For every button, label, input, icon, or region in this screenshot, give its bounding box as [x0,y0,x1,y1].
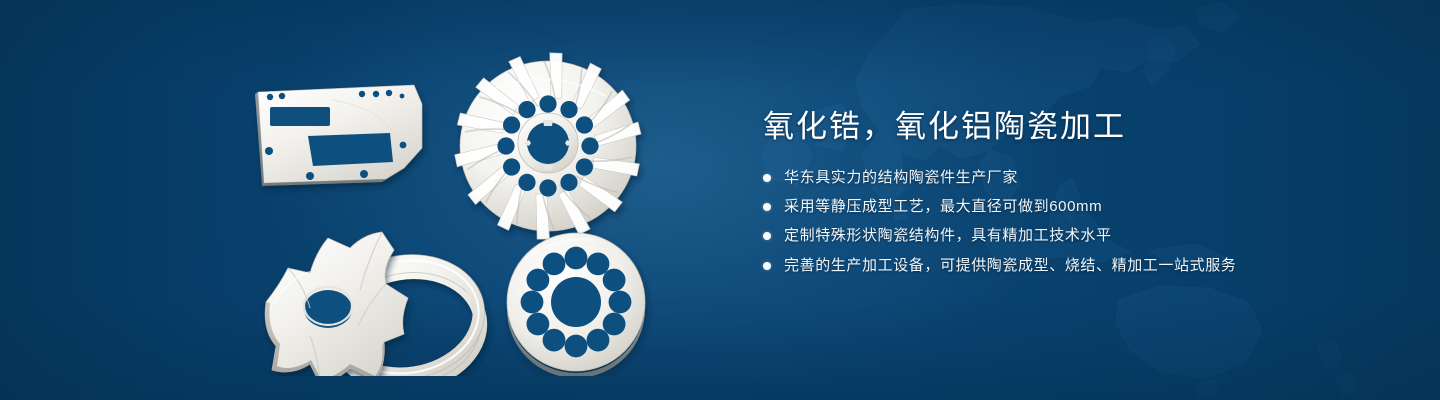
feature-item: 华东具实力的结构陶瓷件生产厂家 [763,168,1363,188]
banner-copy: 氧化锆，氧化铝陶瓷加工 华东具实力的结构陶瓷件生产厂家 采用等静压成型工艺，最大… [763,108,1363,276]
feature-text: 定制特殊形状陶瓷结构件，具有精加工技术水平 [784,226,1112,246]
banner-headline: 氧化锆，氧化铝陶瓷加工 [763,108,1363,146]
feature-item: 定制特殊形状陶瓷结构件，具有精加工技术水平 [763,226,1363,246]
feature-item: 采用等静压成型工艺，最大直径可做到600mm [763,197,1363,217]
feature-text: 完善的生产加工设备，可提供陶瓷成型、烧结、精加工一站式服务 [784,256,1236,276]
bullet-dot-icon [763,262,771,270]
feature-item: 完善的生产加工设备，可提供陶瓷成型、烧结、精加工一站式服务 [763,256,1363,276]
ceramic-perforated-disc [507,233,645,376]
bullet-dot-icon [763,174,771,182]
hero-banner: 氧化锆，氧化铝陶瓷加工 华东具实力的结构陶瓷件生产厂家 采用等静压成型工艺，最大… [0,0,1440,400]
feature-text: 采用等静压成型工艺，最大直径可做到600mm [784,197,1102,217]
feature-text: 华东具实力的结构陶瓷件生产厂家 [784,168,1018,188]
ceramic-impeller-wheel [454,50,642,242]
feature-list: 华东具实力的结构陶瓷件生产厂家 采用等静压成型工艺，最大直径可做到600mm 定… [763,168,1363,276]
ceramic-plate-with-cutouts [255,85,422,186]
bullet-dot-icon [763,203,771,211]
bullet-dot-icon [763,232,771,240]
product-showcase [236,46,686,376]
ceramic-cross-vane-part [265,232,408,376]
